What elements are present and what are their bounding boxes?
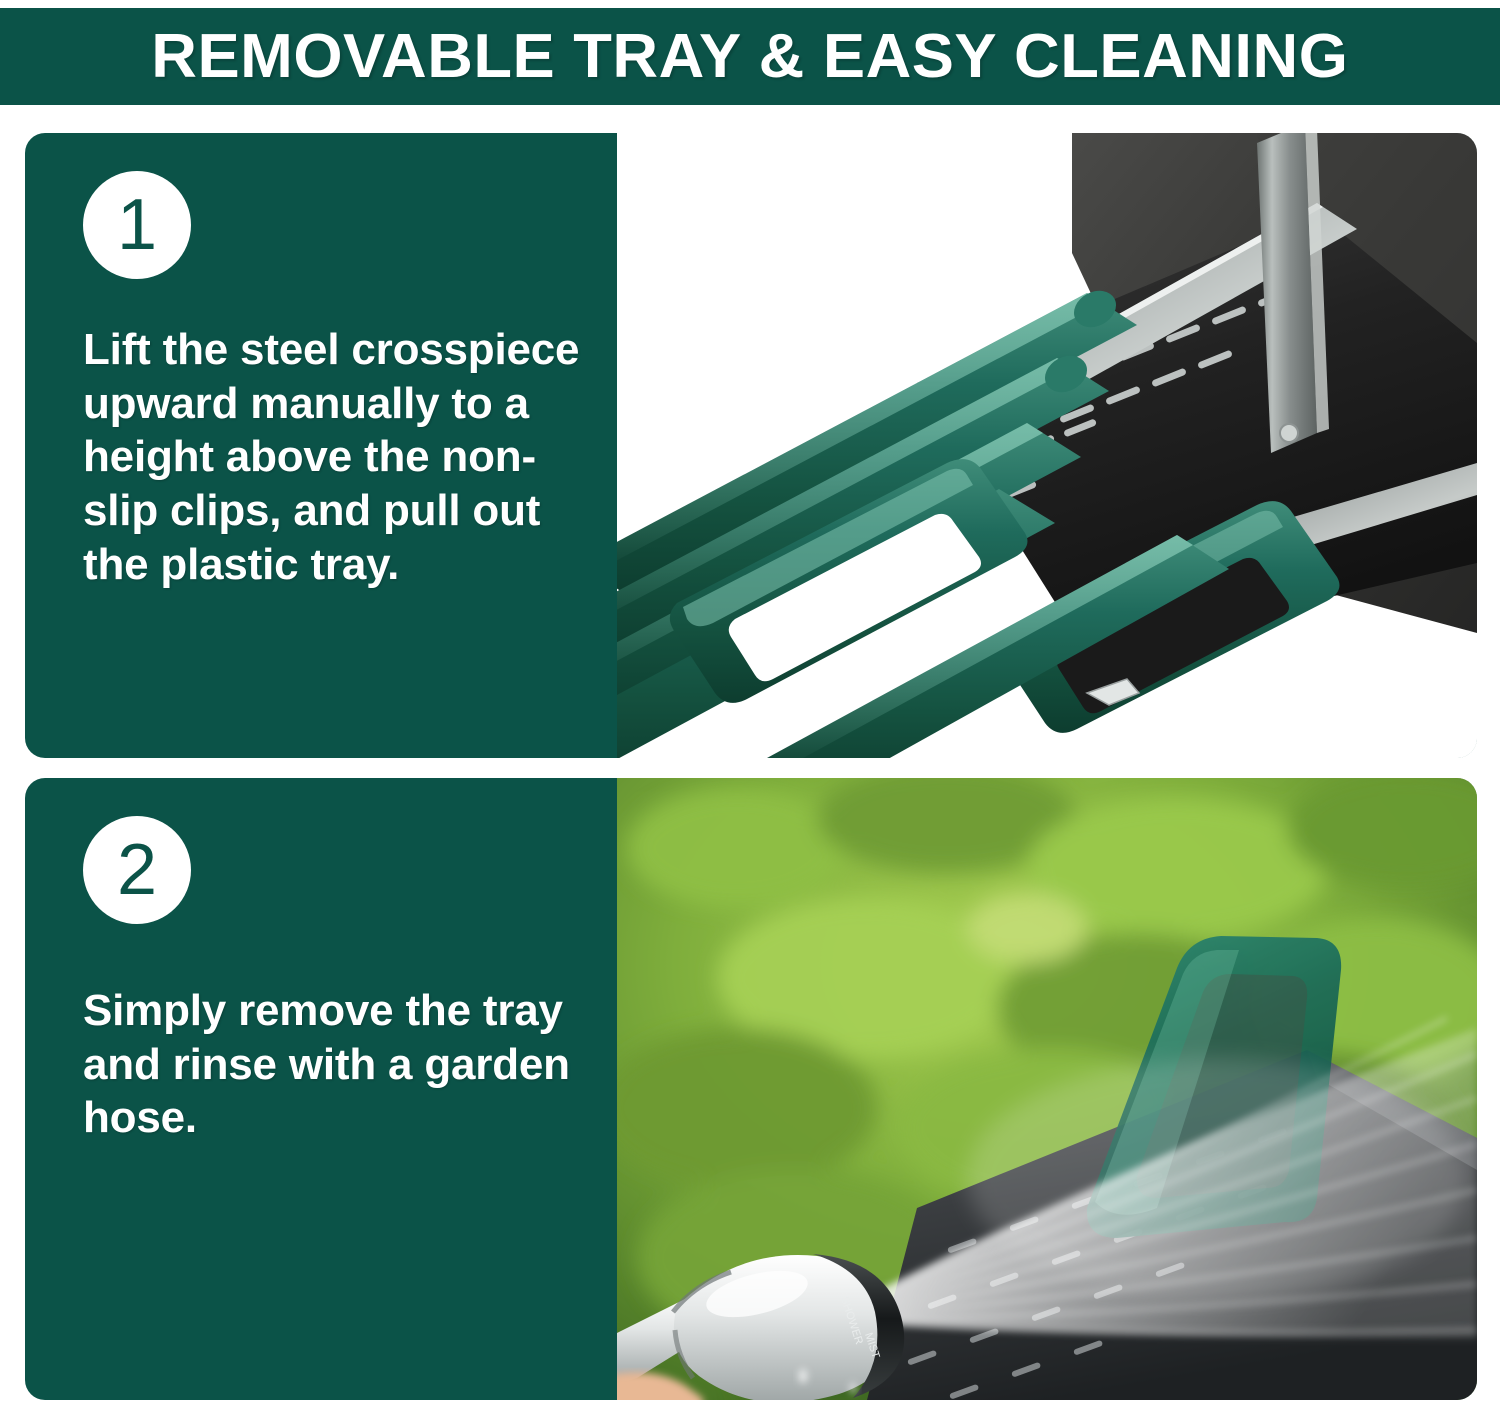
tray-rinsing-hose-photo: SHOWER MIST xyxy=(617,778,1477,1400)
step-2-description: Simply remove the tray and rinse with a … xyxy=(83,984,587,1145)
page-title: REMOVABLE TRAY & EASY CLEANING xyxy=(151,21,1348,92)
infographic-page: REMOVABLE TRAY & EASY CLEANING 1 Lift th… xyxy=(0,0,1500,1414)
step-card-2: 2 Simply remove the tray and rinse with … xyxy=(25,778,1477,1400)
step-2-number-badge: 2 xyxy=(83,816,191,924)
step-2-photo: SHOWER MIST xyxy=(617,778,1477,1400)
garden-kneeler-tray-removal-photo xyxy=(617,133,1477,758)
step-1-text-panel: 1 Lift the steel crosspiece upward manua… xyxy=(25,133,617,758)
header-bar: REMOVABLE TRAY & EASY CLEANING xyxy=(0,8,1500,105)
step-1-number-badge: 1 xyxy=(83,171,191,279)
step-card-1: 1 Lift the steel crosspiece upward manua… xyxy=(25,133,1477,758)
step-1-photo xyxy=(617,133,1477,758)
step-2-text-panel: 2 Simply remove the tray and rinse with … xyxy=(25,778,617,1400)
step-1-description: Lift the steel crosspiece upward manuall… xyxy=(83,323,587,591)
